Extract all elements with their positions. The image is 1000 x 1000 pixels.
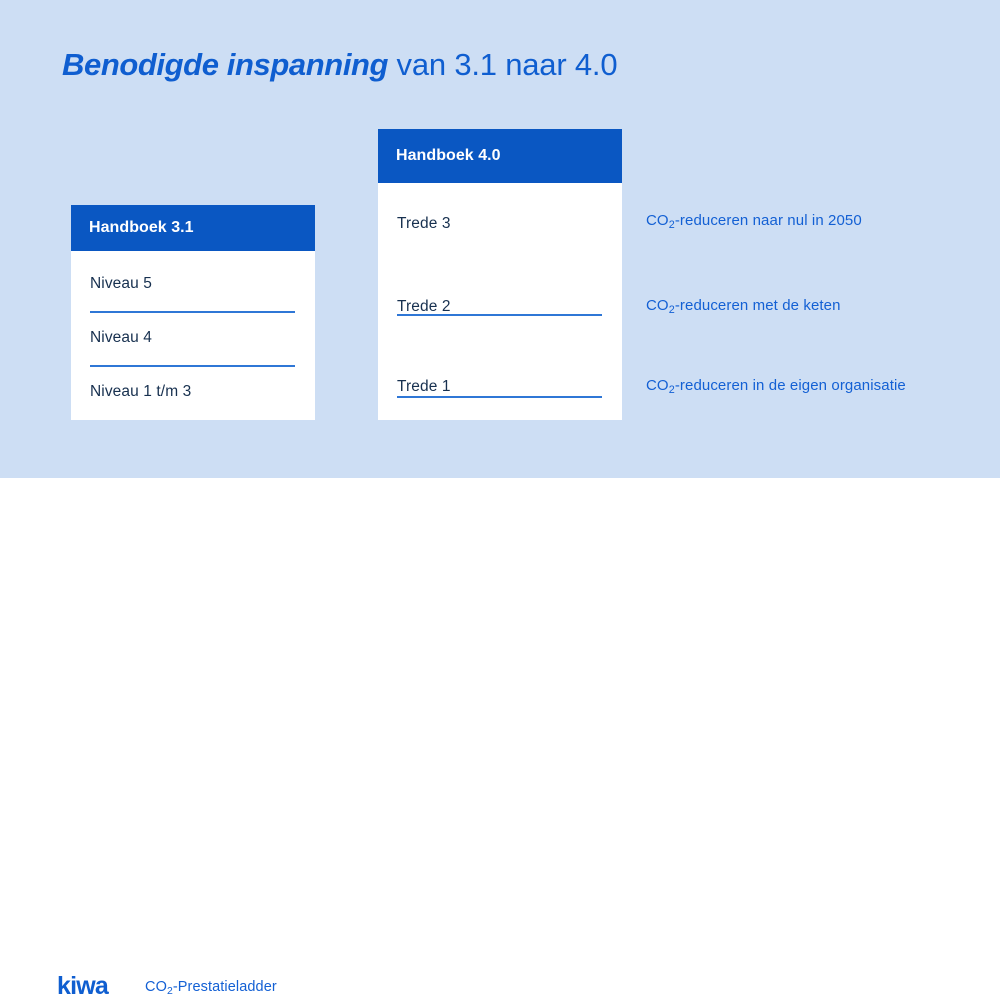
footer-label: CO2-Prestatieladder (145, 977, 277, 999)
card-handboek-40: Handboek 4.0 Trede 3 Trede 2 Trede 1 (378, 129, 622, 420)
footer: kiwa CO2-Prestatieladder (0, 478, 1000, 539)
footer-label-text: -Prestatieladder (173, 979, 277, 995)
annotation-trede-1: CO2-reduceren in de eigen organisatie (646, 377, 906, 394)
card-handboek-31-header: Handboek 3.1 (71, 205, 315, 251)
kiwa-logo: kiwa (57, 972, 108, 1000)
annotation-co2-prefix: CO (646, 212, 669, 229)
row-divider (90, 311, 295, 313)
table-row: Trede 1 (397, 378, 451, 396)
footer-co2-subscript: 2 (167, 986, 173, 997)
annotation-co2-prefix: CO (646, 297, 669, 314)
row-divider (397, 396, 602, 398)
page-title: Benodigde inspanning van 3.1 naar 4.0 (62, 44, 617, 86)
annotation-co2-subscript: 2 (669, 304, 675, 316)
card-handboek-31: Handboek 3.1 Niveau 5 Niveau 4 Niveau 1 … (71, 205, 315, 420)
annotation-co2-subscript: 2 (669, 219, 675, 231)
card-handboek-40-header: Handboek 4.0 (378, 129, 622, 183)
card-handboek-31-body: Niveau 5 Niveau 4 Niveau 1 t/m 3 (71, 251, 315, 420)
slide-root: Benodigde inspanning van 3.1 naar 4.0 Ha… (0, 0, 1000, 539)
annotation-co2-prefix: CO (646, 377, 669, 394)
annotation-text: -reduceren naar nul in 2050 (675, 212, 862, 229)
card-handboek-40-body: Trede 3 Trede 2 Trede 1 (378, 183, 622, 420)
page-title-emphasis: Benodigde inspanning (62, 47, 388, 82)
annotation-text: -reduceren met de keten (675, 297, 841, 314)
table-row: Trede 2 (397, 298, 451, 316)
annotation-text: -reduceren in de eigen organisatie (675, 377, 906, 394)
footer-co2-prefix: CO (145, 979, 167, 995)
table-row: Niveau 4 (90, 329, 152, 347)
annotation-co2-subscript: 2 (669, 384, 675, 396)
annotation-trede-3: CO2-reduceren naar nul in 2050 (646, 212, 862, 229)
annotation-trede-2: CO2-reduceren met de keten (646, 297, 841, 314)
table-row: Niveau 5 (90, 275, 152, 293)
row-divider (90, 365, 295, 367)
table-row: Trede 3 (397, 215, 451, 233)
table-row: Niveau 1 t/m 3 (90, 383, 191, 401)
page-title-rest: van 3.1 naar 4.0 (388, 47, 617, 82)
